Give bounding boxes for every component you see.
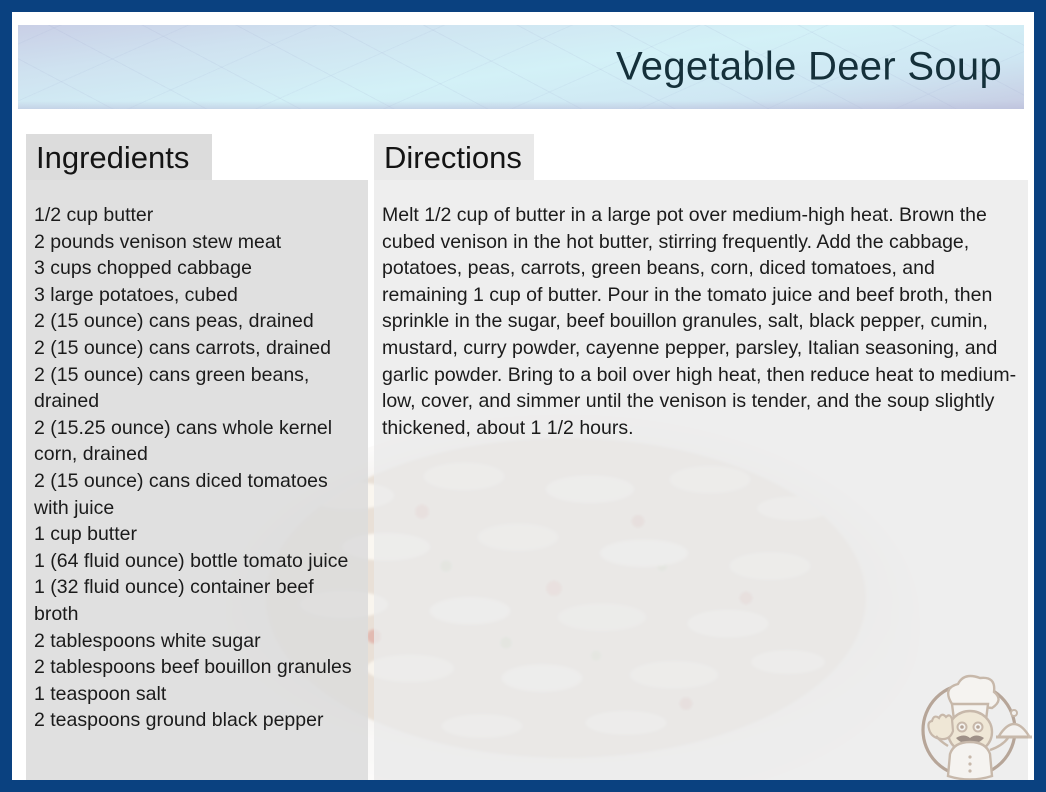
directions-panel: Directions Melt 1/2 cup of butter in a l… <box>374 134 1028 792</box>
ingredient-item: 1 teaspoon salt <box>34 681 360 708</box>
ingredient-item: 2 pounds venison stew meat <box>34 229 360 256</box>
ingredient-item: 2 tablespoons beef bouillon granules <box>34 654 360 681</box>
ingredient-item: 1 (64 fluid ounce) bottle tomato juice <box>34 548 360 575</box>
ingredient-item: 2 (15 ounce) cans diced tomatoes with ju… <box>34 468 360 521</box>
ingredient-item: 2 (15.25 ounce) cans whole kernel corn, … <box>34 415 360 468</box>
ingredient-item: 3 large potatoes, cubed <box>34 282 360 309</box>
page-title: Vegetable Deer Soup <box>616 45 1002 90</box>
directions-heading: Directions <box>384 142 522 173</box>
directions-tab: Directions <box>374 134 534 180</box>
recipe-card: Vegetable Deer Soup Ingredients 1/2 cup … <box>0 0 1046 792</box>
ingredients-tab: Ingredients <box>26 134 212 180</box>
ingredients-panel: Ingredients 1/2 cup butter2 pounds venis… <box>26 134 368 792</box>
ingredient-item: 1/2 cup butter <box>34 202 360 229</box>
ingredient-item: 2 tablespoons white sugar <box>34 628 360 655</box>
ingredient-item: 1 (32 fluid ounce) container beef broth <box>34 574 360 627</box>
ingredient-item: 2 (15 ounce) cans green beans, drained <box>34 362 360 415</box>
ingredients-heading: Ingredients <box>36 142 189 173</box>
ingredient-item: 1 cup butter <box>34 521 360 548</box>
directions-text: Melt 1/2 cup of butter in a large pot ov… <box>382 202 1018 441</box>
ingredient-item: 3 cups chopped cabbage <box>34 255 360 282</box>
header-banner: Vegetable Deer Soup <box>18 25 1024 109</box>
ingredient-item: 2 teaspoons ground black pepper <box>34 707 360 734</box>
ingredient-item: 2 (15 ounce) cans carrots, drained <box>34 335 360 362</box>
directions-body: Melt 1/2 cup of butter in a large pot ov… <box>374 180 1028 792</box>
ingredient-item: 2 (15 ounce) cans peas, drained <box>34 308 360 335</box>
ingredients-list: 1/2 cup butter2 pounds venison stew meat… <box>26 180 368 792</box>
